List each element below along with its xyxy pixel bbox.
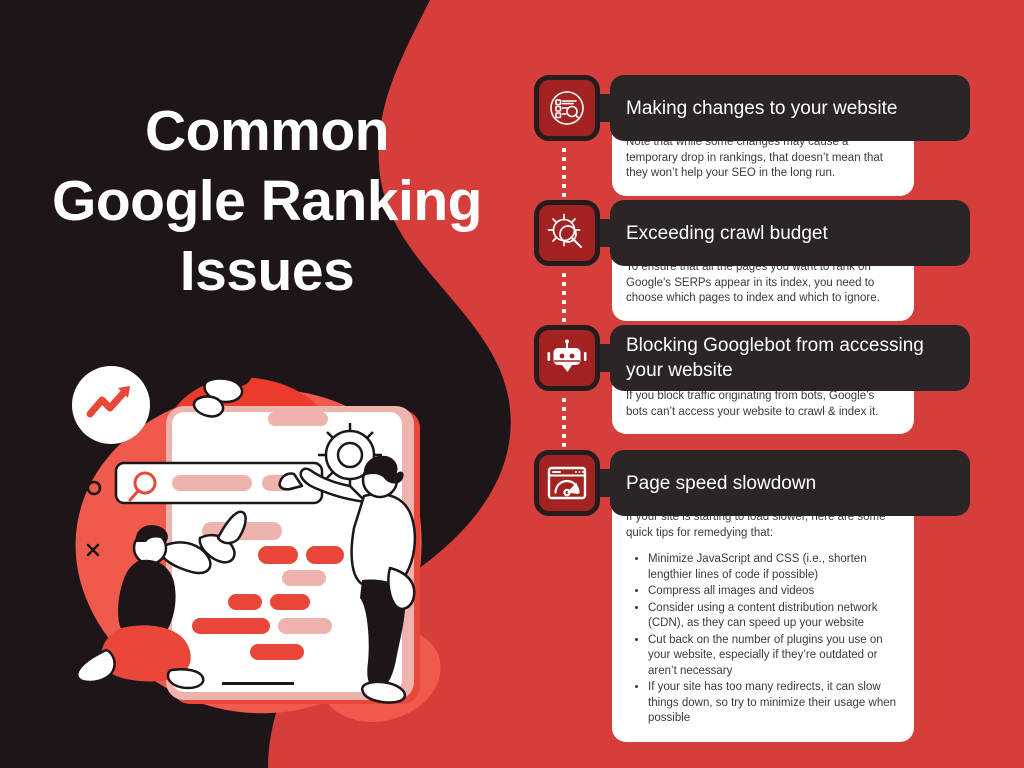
issue-paragraph-1: Note that while some changes may cause a… <box>626 135 898 182</box>
shoe-2 <box>168 669 203 688</box>
deco-sparkle-1 <box>326 372 334 380</box>
issue-heading-3: Blocking Googlebot from accessing your w… <box>626 333 952 383</box>
search-placeholder-bar <box>172 475 252 491</box>
connector-dots-2 <box>562 273 566 323</box>
connector-dots-1 <box>562 148 566 198</box>
issues-column: Note that while some changes may cause a… <box>528 0 1024 768</box>
list-search-icon[interactable] <box>534 75 600 141</box>
title-line-2: Google Ranking <box>20 166 514 236</box>
issue-bullet-list: Minimize JavaScript and CSS (i.e., short… <box>626 552 898 727</box>
deco-circle-outline-2 <box>355 376 369 390</box>
issue-paragraph-2: To ensure that all the pages you want to… <box>626 260 898 307</box>
issue-header-1[interactable]: Making changes to your website <box>610 75 970 141</box>
issue-heading-1: Making changes to your website <box>626 96 897 121</box>
list-item: If your site has too many redirects, it … <box>648 680 898 727</box>
issue-heading-2: Exceeding crawl budget <box>626 221 828 246</box>
issue-header-2[interactable]: Exceeding crawl budget <box>610 200 970 266</box>
shoe-1 <box>77 650 114 682</box>
list-item: Minimize JavaScript and CSS (i.e., short… <box>648 552 898 583</box>
title-line-1: Common <box>20 96 514 166</box>
issue-body-4: If your site is starting to load slower,… <box>612 496 914 742</box>
robot-icon[interactable] <box>534 325 600 391</box>
screen-notch <box>268 412 328 426</box>
hero-illustration <box>50 350 470 760</box>
list-item: Compress all images and videos <box>648 584 898 600</box>
deco-circle-outline-3 <box>378 388 386 396</box>
issue-header-4[interactable]: Page speed slowdown <box>610 450 970 516</box>
list-item: Consider using a content distribution ne… <box>648 601 898 632</box>
page-title: Common Google Ranking Issues <box>20 96 514 306</box>
list-item: Cut back on the number of plugins you us… <box>648 633 898 680</box>
issue-header-3[interactable]: Blocking Googlebot from accessing your w… <box>610 325 970 391</box>
connector-dots-3 <box>562 398 566 448</box>
title-line-3: Issues <box>20 236 514 306</box>
browser-speedometer-icon[interactable] <box>534 450 600 516</box>
issue-heading-4: Page speed slowdown <box>626 471 816 496</box>
issue-paragraph-3: If you block traffic originating from bo… <box>626 389 898 420</box>
infographic-canvas: Common Google Ranking Issues <box>0 0 1024 768</box>
gear-search-icon[interactable] <box>534 200 600 266</box>
